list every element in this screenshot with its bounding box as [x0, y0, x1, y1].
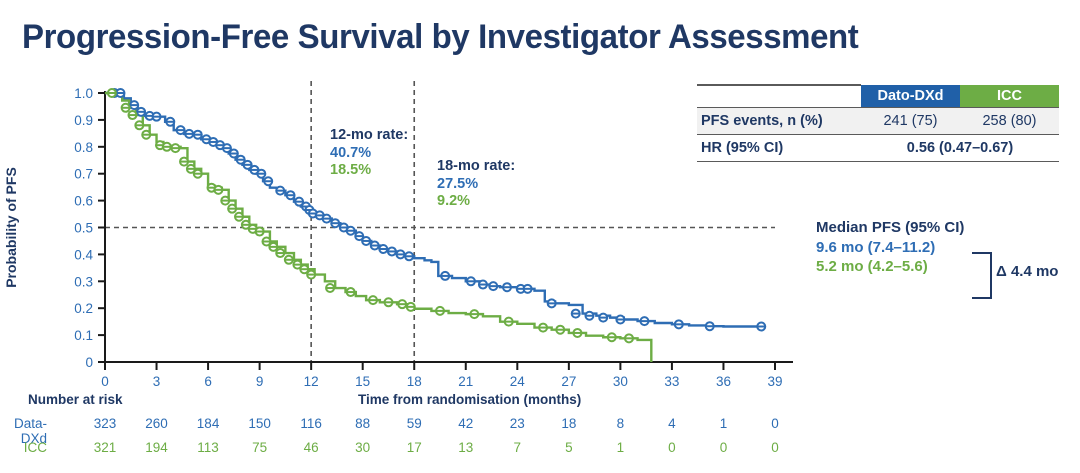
risk-cell: 1 [703, 416, 743, 431]
x-axis-tick-label: 27 [561, 374, 576, 389]
risk-cell: 23 [497, 416, 537, 431]
risk-cell: 150 [240, 416, 280, 431]
y-axis-tick-label: 0 [85, 355, 93, 370]
risk-cell: 0 [755, 416, 795, 431]
summary-table-header-icc: ICC [960, 85, 1059, 108]
risk-cell: 75 [240, 440, 280, 455]
risk-cell: 321 [85, 440, 125, 455]
delta-pfs-value: Δ 4.4 mo [996, 263, 1058, 280]
risk-cell: 194 [137, 440, 177, 455]
risk-cell: 1 [600, 440, 640, 455]
y-axis-tick-label: 0.9 [74, 113, 93, 128]
annotation-18mo-rate: 18-mo rate: 27.5% 9.2% [437, 158, 515, 211]
median-pfs-header: Median PFS (95% CI) [816, 218, 964, 238]
annotation-12mo-icc: 18.5% [330, 162, 408, 180]
risk-cell: 13 [446, 440, 486, 455]
risk-cell: 113 [188, 440, 228, 455]
y-axis-tick-label: 0.2 [74, 301, 93, 316]
risk-cell: 30 [343, 440, 383, 455]
y-axis-tick-label: 0.4 [74, 247, 93, 262]
x-axis-tick-label: 15 [355, 374, 370, 389]
summary-value-hr: 0.56 (0.47–0.67) [861, 135, 1059, 162]
risk-cell: 260 [137, 416, 177, 431]
risk-cell: 5 [549, 440, 589, 455]
annotation-18mo-dato: 27.5% [437, 176, 515, 194]
risk-cell: 46 [291, 440, 331, 455]
risk-cell: 0 [652, 440, 692, 455]
km-plot-svg: 00.10.20.30.40.50.60.70.80.91.0036912151… [0, 70, 800, 390]
x-axis-tick-label: 0 [101, 374, 109, 389]
x-axis-tick-label: 33 [664, 374, 679, 389]
risk-cell: 4 [652, 416, 692, 431]
x-axis-tick-label: 36 [716, 374, 731, 389]
annotation-12mo-header: 12-mo rate: [330, 127, 408, 145]
km-curve-dato [105, 93, 761, 326]
x-axis-tick-label: 6 [204, 374, 212, 389]
delta-bracket [972, 252, 992, 299]
x-axis-tick-label: 18 [407, 374, 422, 389]
x-axis-tick-label: 39 [767, 374, 782, 389]
x-axis-tick-label: 12 [304, 374, 319, 389]
y-axis-tick-label: 0.7 [74, 167, 93, 182]
risk-cell: 116 [291, 416, 331, 431]
summary-value-pfs-events-icc: 258 (80) [960, 108, 1059, 135]
x-axis-tick-label: 24 [510, 374, 526, 389]
page-title: Progression-Free Survival by Investigato… [22, 18, 1031, 57]
annotation-18mo-header: 18-mo rate: [437, 158, 515, 176]
risk-cell: 17 [394, 440, 434, 455]
y-axis-tick-label: 0.1 [74, 328, 93, 343]
risk-cell: 88 [343, 416, 383, 431]
risk-cell: 0 [755, 440, 795, 455]
median-pfs-icc: 5.2 mo (4.2–5.6) [816, 257, 964, 277]
annotation-12mo-dato: 40.7% [330, 145, 408, 163]
y-axis-tick-label: 0.8 [74, 140, 93, 155]
y-axis-tick-label: 1.0 [74, 86, 93, 101]
annotation-12mo-rate: 12-mo rate: 40.7% 18.5% [330, 127, 408, 180]
x-axis-tick-label: 21 [458, 374, 473, 389]
annotation-18mo-icc: 9.2% [437, 193, 515, 211]
y-axis-title: Probability of PFS [3, 167, 19, 288]
risk-cell: 323 [85, 416, 125, 431]
risk-row-icc: ICC3211941137546301713751000 [0, 440, 800, 462]
risk-cell: 0 [703, 440, 743, 455]
median-pfs-annotation: Median PFS (95% CI) 9.6 mo (7.4–11.2) 5.… [816, 218, 964, 277]
median-pfs-dato: 9.6 mo (7.4–11.2) [816, 238, 964, 258]
risk-row-label-icc: ICC [0, 440, 47, 455]
x-axis-tick-label: 3 [153, 374, 161, 389]
y-axis-tick-label: 0.5 [74, 221, 93, 236]
risk-cell: 18 [549, 416, 589, 431]
km-plot: 00.10.20.30.40.50.60.70.80.91.0036912151… [0, 70, 800, 390]
x-axis-title: Time from randomisation (months) [358, 392, 581, 407]
risk-cell: 42 [446, 416, 486, 431]
risk-cell: 7 [497, 440, 537, 455]
y-axis-tick-label: 0.6 [74, 194, 93, 209]
summary-table-header-dato: Dato-DXd [861, 85, 960, 108]
risk-cell: 8 [600, 416, 640, 431]
risk-cell: 59 [394, 416, 434, 431]
risk-row-dato: Data-DXd32326018415011688594223188410 [0, 416, 800, 438]
number-at-risk-table: Number at risk Time from randomisation (… [0, 392, 800, 472]
number-at-risk-header: Number at risk [28, 392, 123, 407]
x-axis-tick-label: 30 [613, 374, 628, 389]
summary-value-pfs-events-dato: 241 (75) [861, 108, 960, 135]
x-axis-tick-label: 9 [256, 374, 264, 389]
risk-cell: 184 [188, 416, 228, 431]
y-axis-tick-label: 0.3 [74, 274, 93, 289]
